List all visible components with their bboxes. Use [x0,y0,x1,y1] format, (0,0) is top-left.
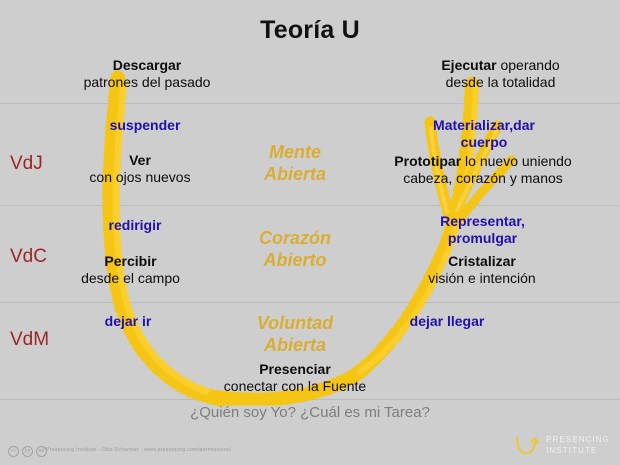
label-cristalizar-bold: Cristalizar [368,253,596,270]
stage-label-vdm: VdM [10,328,49,351]
label-materializar-line2: cuerpo [370,134,598,151]
label-ejecutar-inline: operando [497,57,560,73]
label-descargar-sub: patrones del pasado [42,74,252,91]
label-materializar: Materializar,dar cuerpo [370,117,598,151]
cc-by-icon: by [22,446,33,457]
label-presenciar-bold: Presenciar [170,361,420,378]
u-arrow-logo-icon [514,434,540,458]
presencing-institute-logo: PRESENCING INSTITUTE [514,434,610,458]
label-percibir: Percibir desde el campo [28,253,233,287]
slide-canvas: Teoría U Descargar patrones del pasado E… [0,0,620,465]
label-descargar-bold: Descargar [42,57,252,74]
label-ejecutar-bold: Ejecutar [441,57,496,73]
label-presenciar: Presenciar conectar con la Fuente [170,361,420,395]
stage-label-vdj: VdJ [10,152,43,175]
label-dejar-llegar: dejar llegar [352,313,542,330]
label-materializar-line1: Materializar,dar [370,117,598,134]
center-label-mente-line2: Abierta [220,164,370,186]
label-prototipar-bold: Prototipar [394,153,461,169]
slide-title: Teoría U [0,16,620,45]
band-divider-1 [0,103,620,104]
label-representar-line2: promulgar [375,230,590,247]
band-divider-4 [0,399,620,400]
label-representar: Representar, promulgar [375,213,590,247]
label-descargar: Descargar patrones del pasado [42,57,252,91]
label-cristalizar-sub: visión e intención [368,270,596,287]
center-label-voluntad-line1: Voluntad [220,313,370,335]
band-divider-2 [0,205,620,206]
footer-credit-text: Presencing Institute - Otto Scharmer - w… [46,447,232,453]
logo-line-presencing: PRESENCING [546,435,610,446]
center-label-mente-line1: Mente [220,142,370,164]
label-cristalizar: Cristalizar visión e intención [368,253,596,287]
presencing-institute-wordmark: PRESENCING INSTITUTE [546,435,610,457]
cc-icon: cc [8,446,19,457]
center-label-corazon-line2: Abierto [220,250,370,272]
center-label-voluntad-line2: Abierta [220,335,370,357]
center-label-corazon: Corazón Abierto [220,228,370,272]
label-representar-line1: Representar, [375,213,590,230]
label-dejar-ir: dejar ir [48,313,208,330]
label-percibir-sub: desde el campo [28,270,233,287]
label-prototipar-inline: lo nuevo uniendo [461,153,572,169]
band-divider-3 [0,302,620,303]
label-ejecutar: Ejecutar operando desde la totalidad [393,57,608,91]
label-percibir-bold: Percibir [28,253,233,270]
center-label-corazon-line1: Corazón [220,228,370,250]
label-ver: Ver con ojos nuevos [40,152,240,186]
logo-line-institute: INSTITUTE [546,446,610,457]
label-redirigir: redirigir [40,217,230,234]
label-ver-sub: con ojos nuevos [40,169,240,186]
label-ejecutar-line1: Ejecutar operando [393,57,608,74]
center-label-voluntad: Voluntad Abierta [220,313,370,357]
closing-question: ¿Quién soy Yo? ¿Cuál es mi Tarea? [0,404,620,421]
center-label-mente: Mente Abierta [220,142,370,186]
label-suspender: suspender [50,117,240,134]
creative-commons-icons: cc by nd [8,446,47,457]
label-prototipar-sub: cabeza, corazón y manos [358,170,608,187]
label-ver-bold: Ver [40,152,240,169]
label-ejecutar-sub: desde la totalidad [393,74,608,91]
label-presenciar-sub: conectar con la Fuente [170,378,420,395]
label-prototipar: Prototipar lo nuevo uniendo cabeza, cora… [358,153,608,187]
label-prototipar-line1: Prototipar lo nuevo uniendo [358,153,608,170]
